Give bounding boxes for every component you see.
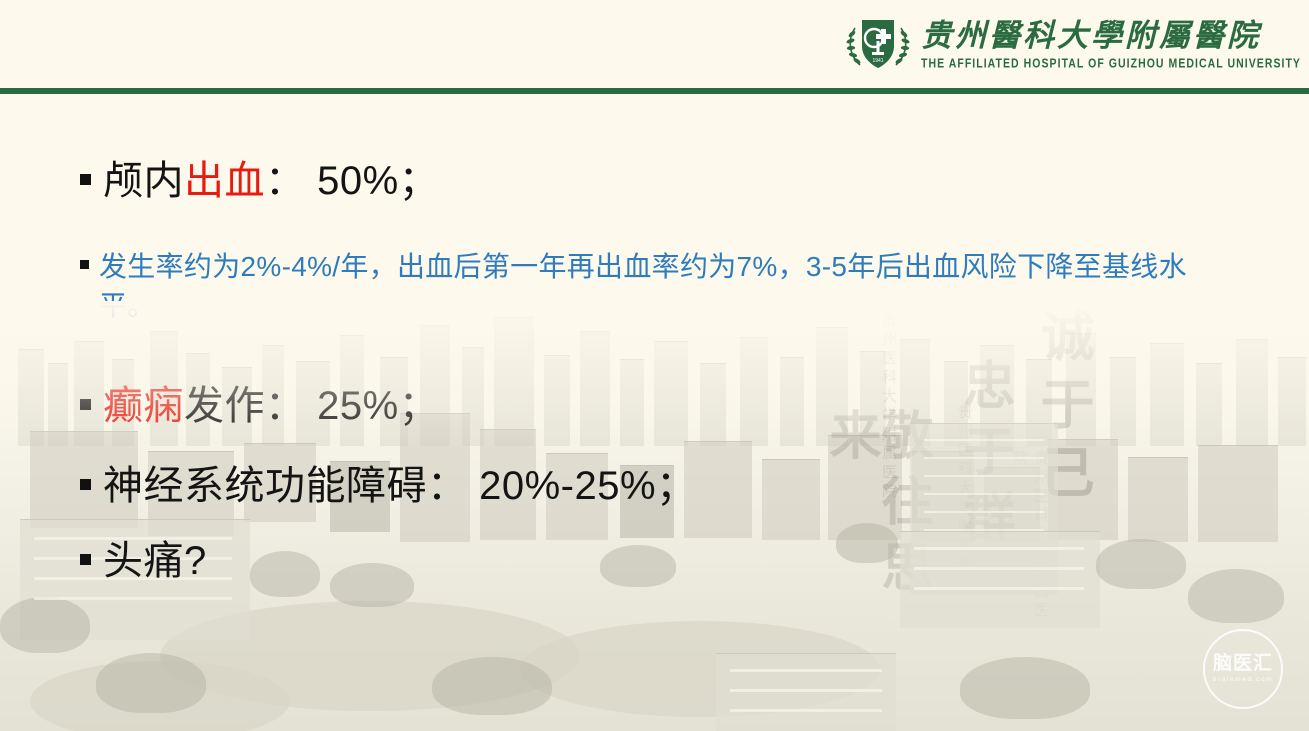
header-green-rule — [0, 88, 1309, 94]
bullet-1-segment-2: 出血 — [184, 159, 265, 203]
calligraphy-watermark: 诚于己 忠于群 敬往思来 贵州医科大学附属医院 贵州医科大学附属医院 贵州医科大… — [845, 300, 1095, 630]
bullet-2-text: 发生率约为2%-4%/年，出血后第一年再出血率约为7%，3-5年后出血风险下降至… — [99, 248, 1219, 325]
calligraphy-inscription-3: 贵州医科大学附属医院 — [878, 312, 899, 502]
bullet-square-icon — [80, 554, 91, 565]
brainmed-name-cn: 脑医汇 — [1213, 654, 1273, 673]
calligraphy-inscription-2: 贵州医科大学附属医院 — [954, 404, 975, 594]
hospital-name-cn: 贵州醫科大學附屬醫院 — [921, 18, 1301, 54]
bullet-4-text: 神经系统功能障碍： 20%-25%； — [103, 463, 697, 510]
calligraphy-column-2: 忠于群 — [957, 358, 1009, 556]
hospital-name-en: THE AFFILIATED HOSPITAL OF GUIZHOU MEDIC… — [921, 56, 1301, 71]
bullet-square-icon — [80, 479, 91, 490]
list-item: 发生率约为2%-4%/年，出血后第一年再出血率约为7%，3-5年后出血风险下降至… — [80, 248, 1219, 325]
shield-icon: 1941 — [843, 8, 913, 78]
list-item: 癫痫发作： 25%； — [80, 383, 439, 430]
bullet-1-segment-3: ： 50%； — [265, 159, 439, 203]
slide: 诚于己 忠于群 敬往思来 贵州医科大学附属医院 贵州医科大学附属医院 贵州医科大… — [0, 0, 1309, 731]
list-item: 神经系统功能障碍： 20%-25%； — [80, 463, 697, 510]
brainmed-name-en: brainmed.com — [1213, 677, 1273, 684]
photo-sky-gradient — [0, 301, 1309, 731]
bullet-3-segment-1: 癫痫 — [103, 384, 184, 428]
bullet-square-icon — [80, 174, 91, 185]
calligraphy-column-1: 诚于己 — [1035, 308, 1089, 512]
bullet-3-segment-2: 发作： 25%； — [184, 384, 439, 428]
calligraphy-column-3: 敬往思来 — [823, 408, 927, 630]
campus-aerial-photo-background — [0, 301, 1309, 731]
list-item: 头痛? — [80, 538, 207, 585]
calligraphy-inscription-1: 贵州医科大学附属医院 — [1009, 450, 1051, 630]
bullet-text: 癫痫发作： 25%； — [103, 383, 439, 430]
bullet-square-icon — [80, 399, 91, 410]
bullet-5-text: 头痛? — [103, 538, 207, 585]
brainmed-watermark: 脑医汇 brainmed.com — [1203, 629, 1283, 709]
bullet-1-segment-1: 颅内 — [103, 159, 184, 203]
bullet-square-icon — [80, 260, 89, 269]
hospital-logo-text: 贵州醫科大學附屬醫院 THE AFFILIATED HOSPITAL OF GU… — [921, 18, 1301, 69]
svg-text:1941: 1941 — [872, 58, 883, 64]
list-item: 颅内出血： 50%； — [80, 158, 439, 205]
bullet-text: 颅内出血： 50%； — [103, 158, 439, 205]
hospital-logo: 1941 贵州醫科大學附屬醫院 THE AFFILIATED HOSPITAL … — [843, 8, 1301, 78]
